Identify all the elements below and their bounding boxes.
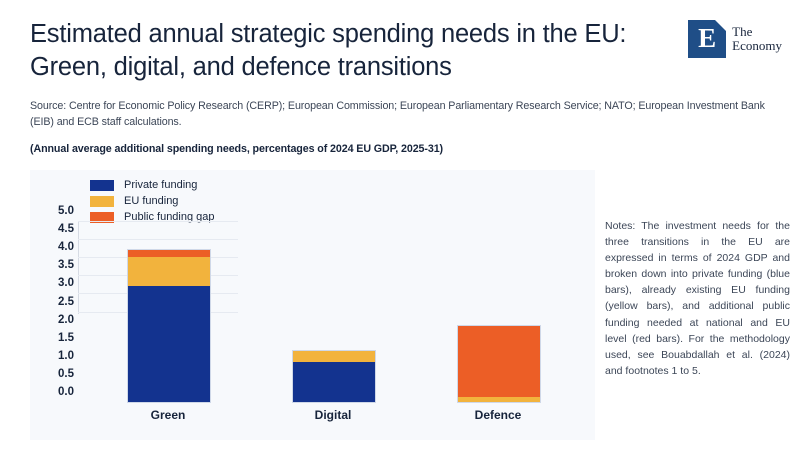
bar-segment-public-funding-gap[interactable]	[458, 326, 540, 397]
x-axis-label-green: Green	[127, 408, 209, 422]
bar-series-container: GreenDigitalDefence	[78, 222, 578, 403]
bar-group-green[interactable]: Green	[127, 222, 209, 403]
legend-item-label: Private funding	[124, 179, 197, 191]
the-economy-logo-icon: E	[688, 20, 726, 58]
y-axis-tick-label: 3.0	[34, 278, 74, 289]
legend-swatch-icon	[90, 196, 114, 207]
bar-segment-eu-funding[interactable]	[128, 257, 210, 286]
plot-area: 5.04.54.03.53.02.52.01.51.00.50.0 GreenD…	[78, 222, 578, 403]
source-note: Source: Centre for Economic Policy Resea…	[30, 98, 772, 130]
logo-wordmark-line2: Economy	[732, 38, 782, 53]
x-axis-label-defence: Defence	[457, 408, 539, 422]
chart-legend: Private fundingEU fundingPublic funding …	[90, 178, 215, 224]
y-axis-tick-label: 2.5	[34, 297, 74, 308]
header: Estimated annual strategic spending need…	[0, 0, 800, 170]
x-axis-label-digital: Digital	[292, 408, 374, 422]
legend-item-eu-funding[interactable]: EU funding	[90, 194, 215, 208]
chart-panel: Private fundingEU fundingPublic funding …	[30, 170, 595, 440]
y-axis-tick-label: 1.5	[34, 333, 74, 344]
bar-group-digital[interactable]: Digital	[292, 222, 374, 403]
y-axis-tick-label: 2.0	[34, 315, 74, 326]
bar-segment-eu-funding[interactable]	[458, 397, 540, 402]
y-axis-tick-label: 4.5	[34, 224, 74, 235]
notes-text: Notes: The investment needs for the thre…	[605, 218, 790, 379]
legend-item-label: EU funding	[124, 195, 178, 207]
legend-item-private-funding[interactable]: Private funding	[90, 178, 215, 192]
chart-subtitle: (Annual average additional spending need…	[30, 142, 750, 156]
stacked-bar[interactable]	[292, 350, 376, 403]
y-axis-tick-label: 3.5	[34, 260, 74, 271]
y-axis-tick-label: 4.0	[34, 242, 74, 253]
bar-segment-public-funding-gap[interactable]	[128, 250, 210, 257]
stacked-bar[interactable]	[127, 249, 211, 403]
page-title: Estimated annual strategic spending need…	[30, 18, 650, 84]
y-axis-tick-label: 0.0	[34, 387, 74, 398]
y-axis-tick-label: 1.0	[34, 351, 74, 362]
brand-logo: E The Economy	[688, 20, 782, 58]
legend-swatch-icon	[90, 180, 114, 191]
stacked-bar[interactable]	[457, 325, 541, 403]
logo-wordmark: The Economy	[732, 25, 782, 53]
bar-segment-private-funding[interactable]	[128, 286, 210, 402]
logo-wordmark-line1: The	[732, 24, 752, 39]
bar-segment-eu-funding[interactable]	[293, 351, 375, 362]
bar-segment-private-funding[interactable]	[293, 362, 375, 402]
infographic-page: Estimated annual strategic spending need…	[0, 0, 800, 450]
y-axis-tick-label: 0.5	[34, 369, 74, 380]
y-axis-tick-label: 5.0	[34, 206, 74, 217]
logo-folded-corner-icon	[715, 20, 726, 31]
notes-panel: Notes: The investment needs for the thre…	[595, 170, 800, 440]
bar-group-defence[interactable]: Defence	[457, 222, 539, 403]
